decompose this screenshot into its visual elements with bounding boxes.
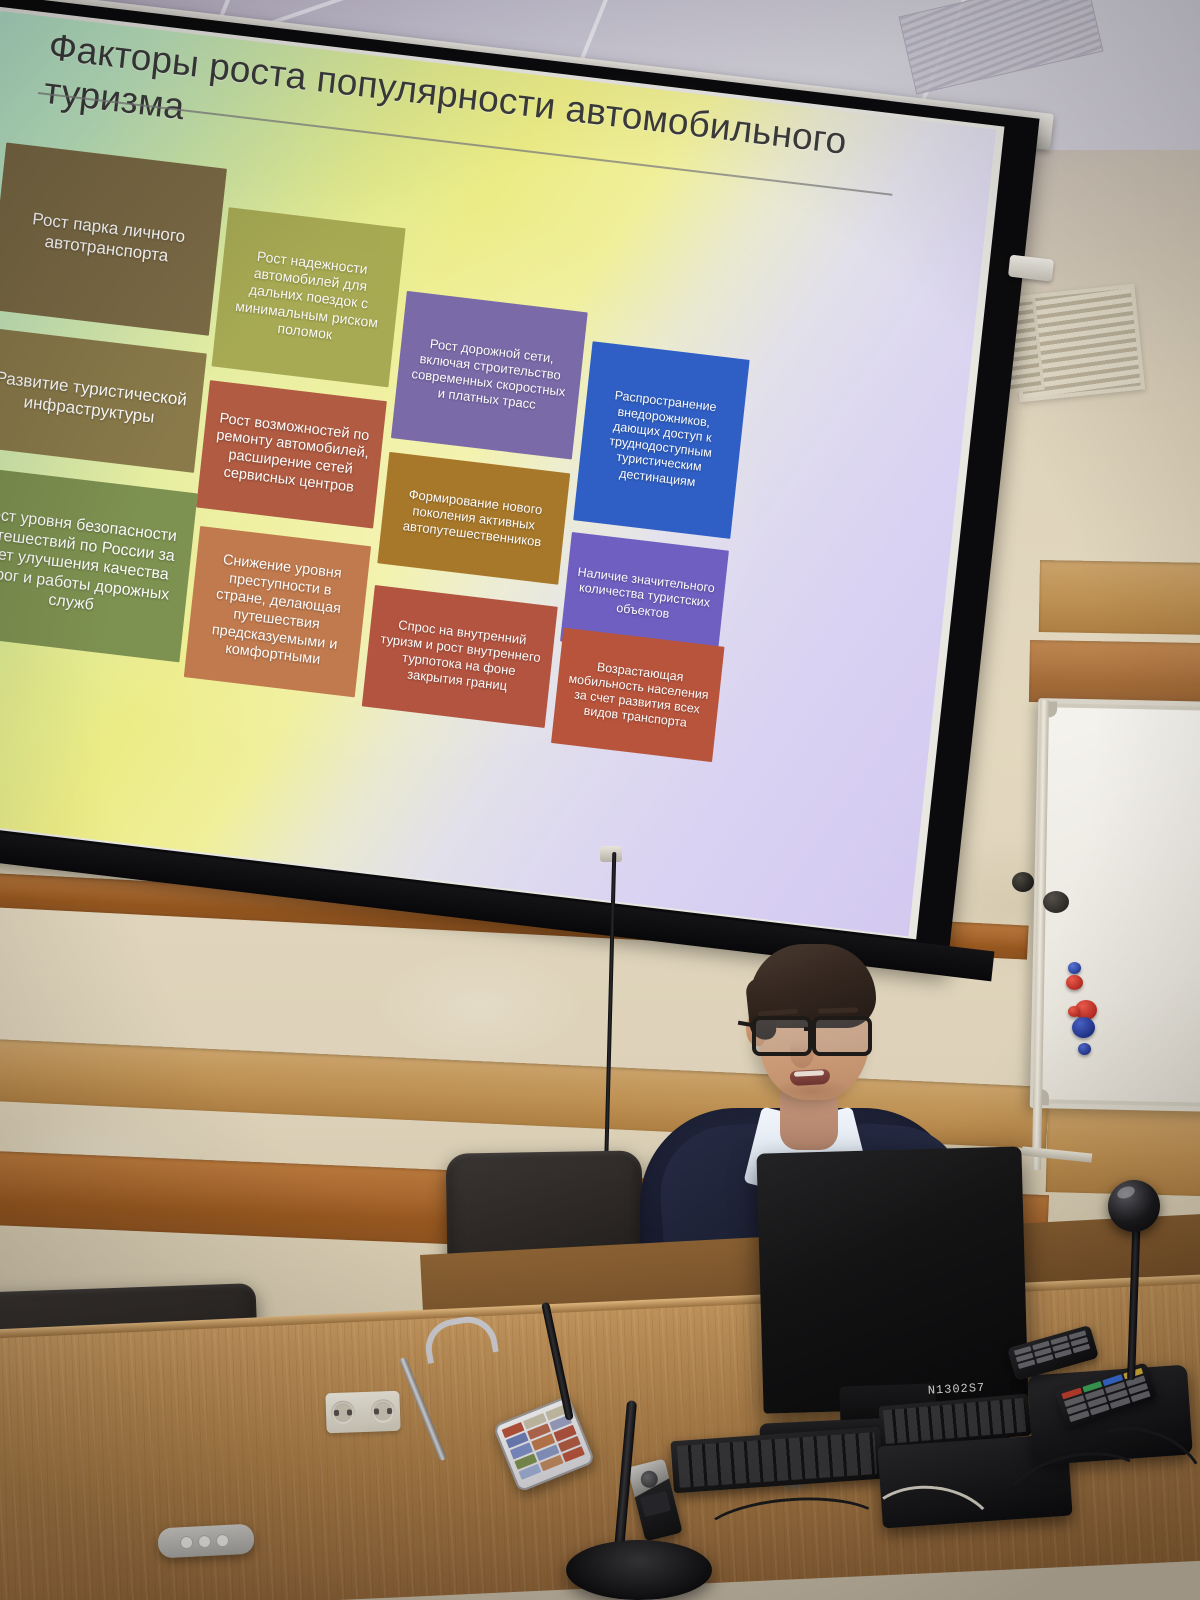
microphone-base[interactable] [566, 1540, 712, 1600]
screen-cord-clip [600, 846, 622, 862]
eyeglasses-icon [750, 1016, 878, 1050]
recorder-display [640, 1491, 671, 1517]
eyeglass-bridge [804, 1027, 816, 1031]
factor-box-7-text: Формирование нового поколения активных а… [391, 485, 557, 551]
factor-box-5-text: Развитие туристической инфраструктуры [0, 368, 193, 433]
screen-cord-knob[interactable] [1012, 872, 1034, 892]
presentation-clicker[interactable] [157, 1524, 254, 1559]
whiteboard-knob[interactable] [1043, 891, 1069, 913]
recorder-dial[interactable] [639, 1469, 660, 1490]
projection-screen: Факторы роста популярности автомобильног… [0, 0, 1068, 948]
eyeglass-lens-left [752, 1016, 812, 1056]
factor-box-3: Рост дорожной сети, включая строительств… [391, 291, 588, 460]
magnet-blue-small[interactable] [1078, 1043, 1091, 1055]
factor-box-10-text: Снижение уровня преступности в стране, д… [196, 550, 358, 673]
factor-box-9: Рост уровня безопасности путешествий по … [0, 466, 198, 662]
factor-box-12-text: Возрастающая мобильность населения за сч… [564, 656, 712, 733]
factor-box-11-text: Спрос на внутренний туризм и рост внутре… [375, 615, 545, 697]
factor-box-11: Спрос на внутренний туризм и рост внутре… [362, 585, 558, 728]
magnet-blue[interactable] [1072, 1017, 1095, 1038]
factor-box-1-text: Рост парка личного автотранспорта [5, 207, 210, 272]
wall-wood-stripe [1029, 640, 1200, 705]
wall-wood-stripe [1039, 560, 1200, 635]
factor-box-9-text: Рост уровня безопасности путешествий по … [0, 504, 184, 626]
factor-box-4-text: Распространение внедорожников, дающих до… [588, 386, 735, 493]
factor-box-4: Распространение внедорожников, дающих до… [573, 341, 749, 539]
factor-box-3-text: Рост дорожной сети, включая строительств… [405, 334, 573, 416]
factor-box-7: Формирование нового поколения активных а… [377, 452, 570, 585]
presentation-slide: Факторы роста популярности автомобильног… [0, 11, 996, 936]
conference-room-photo: Факторы роста популярности автомобильног… [0, 0, 1200, 1600]
factor-box-2-text: Рост надежности автомобилей для дальних … [225, 246, 391, 350]
factor-box-5: Развитие туристической инфраструктуры [0, 327, 207, 473]
power-outlet[interactable] [325, 1391, 400, 1434]
conference-camera-icon[interactable] [1108, 1180, 1160, 1232]
computer-monitor[interactable] [756, 1146, 1028, 1413]
eyeglass-lens-right [812, 1016, 872, 1056]
factor-box-2: Рост надежности автомобилей для дальних … [212, 207, 406, 387]
factor-box-6-text: Рост возможностей по ремонту автомобилей… [209, 410, 374, 499]
magnet-red[interactable] [1066, 975, 1083, 990]
factors-grid: Рост парка личного автотранспорта Рост н… [0, 133, 961, 902]
screen-surface: Факторы роста популярности автомобильног… [0, 6, 1004, 939]
magnet-blue[interactable] [1068, 962, 1081, 974]
factor-box-10: Снижение уровня преступности в стране, д… [184, 526, 371, 697]
factor-box-6: Рост возможностей по ремонту автомобилей… [196, 380, 387, 528]
factor-box-1: Рост парка личного автотранспорта [0, 143, 227, 336]
magnet-red-small[interactable] [1068, 1006, 1080, 1017]
factor-box-12: Возрастающая мобильность населения за сч… [551, 628, 724, 762]
screen-frame: Факторы роста популярности автомобильног… [0, 0, 1040, 973]
factor-box-8-text: Наличие значительного количества туристс… [573, 565, 715, 627]
